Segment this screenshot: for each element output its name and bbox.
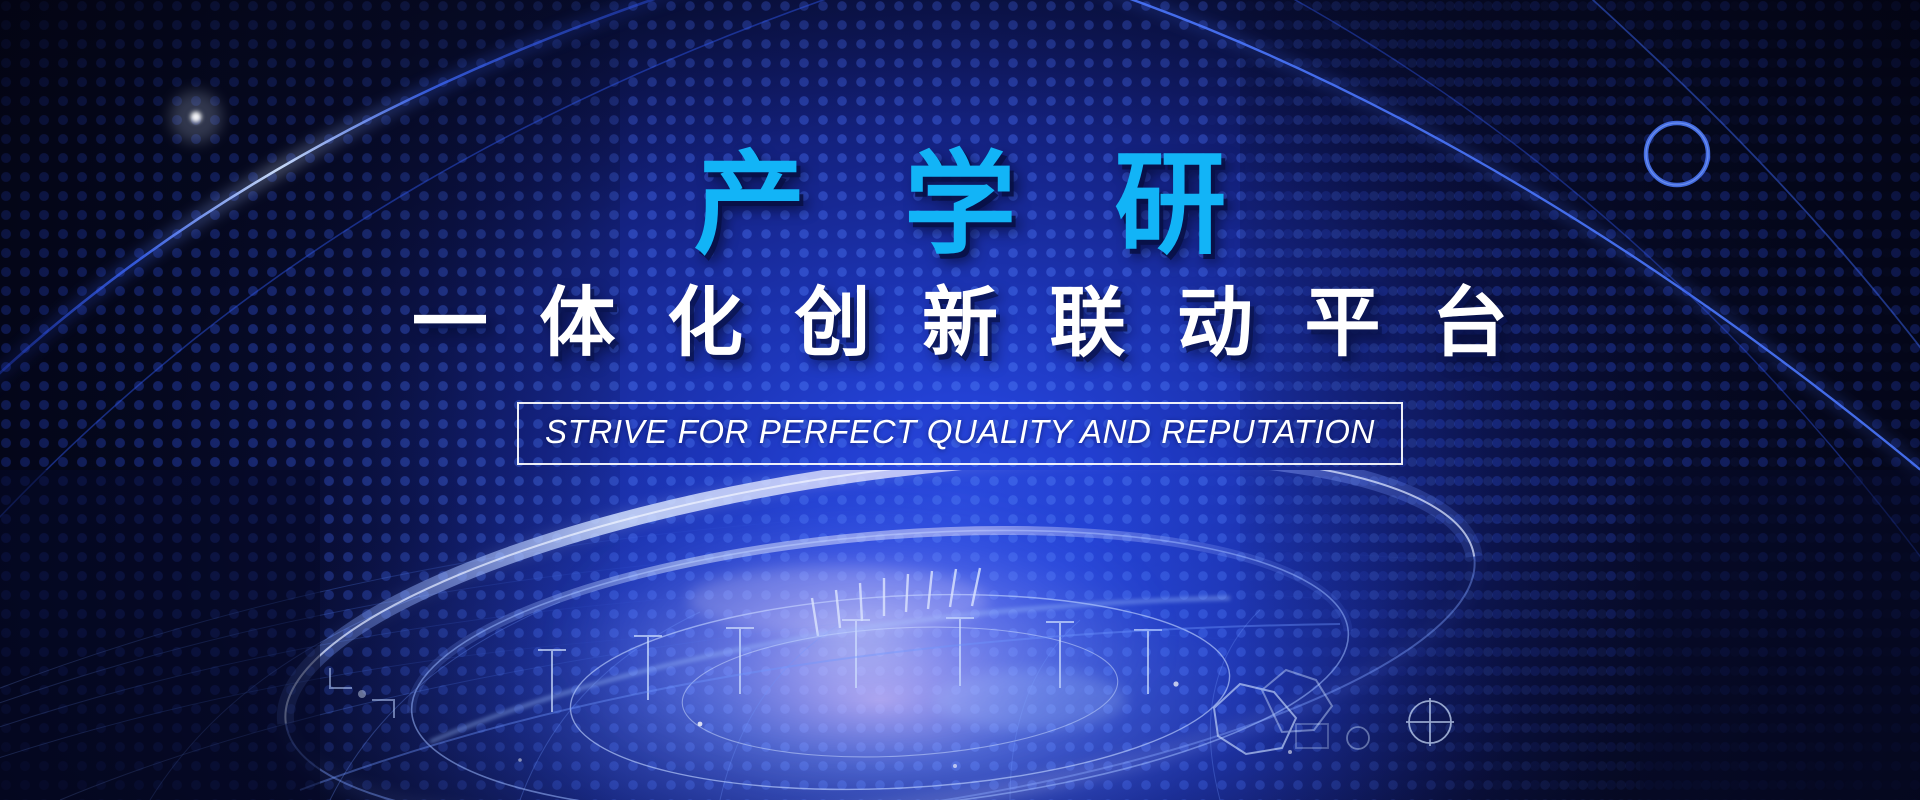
page-subtitle: 一 体 化 创 新 联 动 平 台 [397,284,1524,364]
tagline-box: STRIVE FOR PERFECT QUALITY AND REPUTATIO… [517,402,1403,465]
tagline-text: STRIVE FOR PERFECT QUALITY AND REPUTATIO… [545,413,1375,451]
hero-banner: 产 学 研 一 体 化 创 新 联 动 平 台 STRIVE FOR PERFE… [0,0,1920,800]
banner-content: 产 学 研 一 体 化 创 新 联 动 平 台 STRIVE FOR PERFE… [0,0,1920,800]
page-title: 产 学 研 [660,148,1260,262]
